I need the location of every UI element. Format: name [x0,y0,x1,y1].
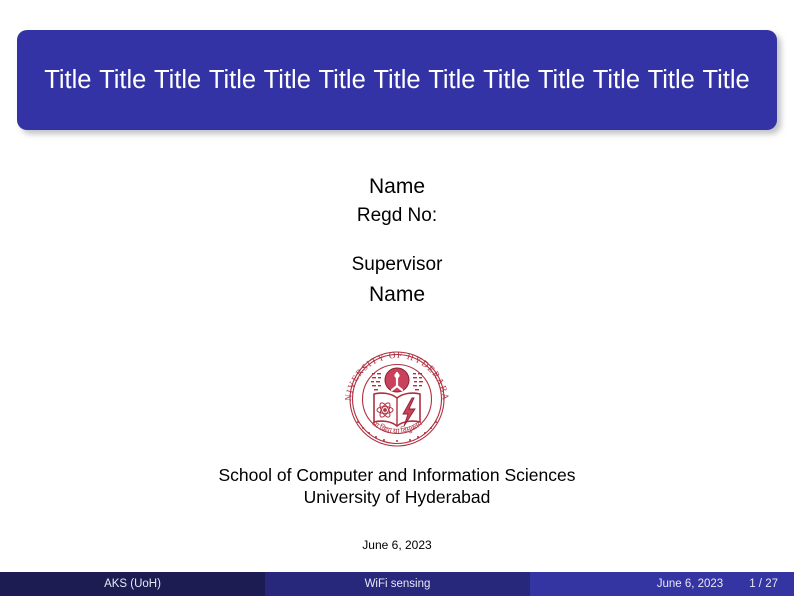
supervisor-label: Supervisor [0,251,794,279]
institute-line-1: School of Computer and Information Scien… [0,464,794,486]
slide-date: June 6, 2023 [0,538,794,552]
author-name: Name [0,172,794,202]
author-block: Name Regd No: Supervisor Name [0,172,794,311]
footer-date: June 6, 2023 [657,578,724,590]
slide-canvas: Title Title Title Title Title Title Titl… [0,0,794,596]
footer-right: June 6, 2023 1 / 27 [530,572,794,596]
footer-title: WiFi sensing [265,572,530,596]
footer-author: AKS (UoH) [0,572,265,596]
presentation-title: Title Title Title Title Title Title Titl… [44,61,749,99]
institute-block: School of Computer and Information Scien… [0,464,794,508]
university-of-hyderabad-crest-icon: UNIVERSITY OF HYDERABAD सा विद्या या विम… [339,342,455,454]
footer-bar: AKS (UoH) WiFi sensing June 6, 2023 1 / … [0,572,794,596]
institute-line-2: University of Hyderabad [0,486,794,508]
title-block: Title Title Title Title Title Title Titl… [17,30,777,130]
author-regd-no: Regd No: [0,202,794,229]
supervisor-name: Name [0,279,794,311]
logo-wrap: UNIVERSITY OF HYDERABAD सा विद्या या विम… [0,342,794,454]
footer-page-number: 1 / 27 [749,578,778,590]
crest-medallion-icon [385,368,409,392]
author-spacer [0,229,794,251]
